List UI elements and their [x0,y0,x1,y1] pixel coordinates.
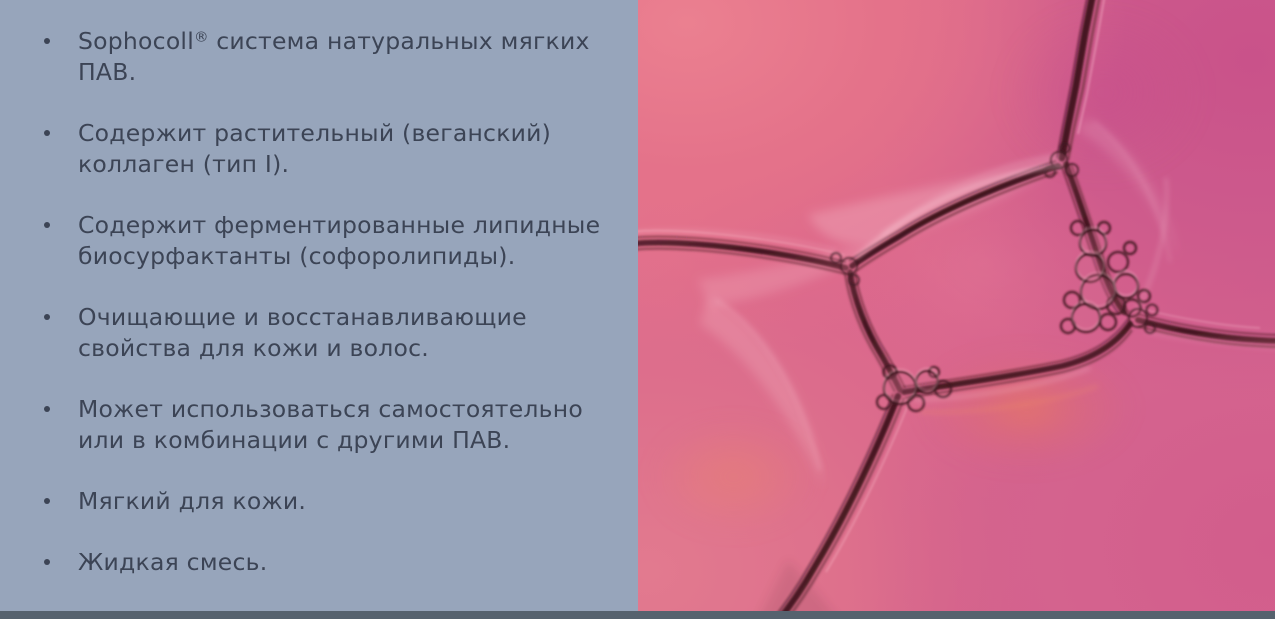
bullet-text-7: Жидкая смесь. [78,547,604,578]
plateau-border-left-branch [638,231,846,275]
bullet-text-6: Мягкий для кожи. [78,486,604,517]
bullet-dot-icon [44,314,50,320]
bullet-item-1: Sophocoll® система натуральных мягких ПА… [40,26,604,88]
registered-trademark-icon: ® [194,28,209,45]
bullet-item-5: Может использоваться самостоятельно или … [40,394,604,456]
bullet-text-2: Содержит растительный (веганский) коллаг… [78,118,604,180]
slide: Sophocoll® система натуральных мягких ПА… [0,0,1275,619]
bullet-item-6: Мягкий для кожи. [40,486,604,517]
bullet-dot-icon [44,406,50,412]
bullet-text-1: Sophocoll® система натуральных мягких ПА… [78,26,604,88]
bullet-item-3: Содержит ферментированные липидные биосу… [40,210,604,272]
bottom-accent-bar [0,611,1275,619]
bullet-text-1-main: Sophocoll [78,27,194,55]
bullet-dot-icon [44,498,50,504]
text-panel: Sophocoll® система натуральных мягких ПА… [0,0,638,619]
bullet-dot-icon [44,222,50,228]
bullet-dot-icon [44,559,50,565]
bullet-item-2: Содержит растительный (веганский) коллаг… [40,118,604,180]
bullet-item-4: Очищающие и восстанавливающие свойства д… [40,302,604,364]
bubble-photo-panel [638,0,1275,619]
soap-film-macro-photo [638,0,1275,619]
bullet-text-3: Содержит ферментированные липидные биосу… [78,210,604,272]
bullet-text-5: Может использоваться самостоятельно или … [78,394,604,456]
bullet-text-4: Очищающие и восстанавливающие свойства д… [78,302,604,364]
bullet-item-7: Жидкая смесь. [40,547,604,578]
bullet-dot-icon [44,38,50,44]
soap-film-structure [638,0,1275,619]
bullet-list: Sophocoll® система натуральных мягких ПА… [40,26,604,578]
bullet-dot-icon [44,130,50,136]
